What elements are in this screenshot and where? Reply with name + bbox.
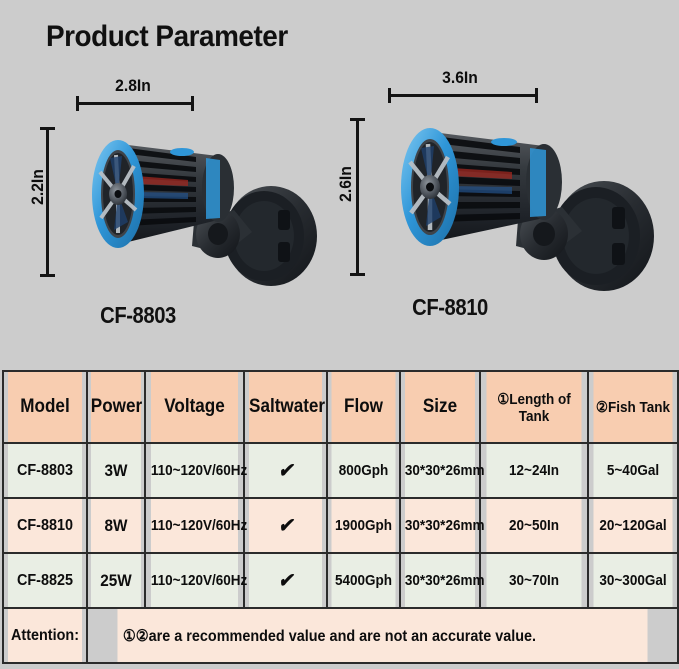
cell-length-of-tank: 30~70In xyxy=(485,553,582,608)
cell-flow: 1900Gph xyxy=(331,498,397,553)
table-row: CF-8825 25W 110~120V/60Hz ✔ 5400Gph 30*3… xyxy=(3,553,678,608)
height-dimension-line xyxy=(46,127,49,277)
spec-table: Model Power Voltage Saltwater Flow Size … xyxy=(2,370,679,664)
column-header-fish-tank: ②Fish Tank xyxy=(593,371,674,443)
attention-label: Attention: xyxy=(7,608,83,663)
cell-power: 8W xyxy=(90,498,142,553)
page-title: Product Parameter xyxy=(46,20,288,54)
height-dimension-label: 2.6In xyxy=(336,156,356,211)
cell-saltwater-check: ✔ xyxy=(248,553,323,608)
column-header-model: Model xyxy=(7,371,83,443)
cell-voltage: 110~120V/60Hz xyxy=(150,443,239,498)
model-caption: CF-8810 xyxy=(380,294,521,321)
table-footer-row: Attention: ①②are a recommended value and… xyxy=(3,608,678,663)
table-row: CF-8810 8W 110~120V/60Hz ✔ 1900Gph 30*30… xyxy=(3,498,678,553)
height-dimension-label: 2.2In xyxy=(28,159,48,214)
cell-model: CF-8803 xyxy=(7,443,83,498)
height-dimension-line xyxy=(356,118,359,276)
cell-voltage: 110~120V/60Hz xyxy=(150,553,239,608)
model-caption: CF-8803 xyxy=(68,302,209,329)
table-row: CF-8803 3W 110~120V/60Hz ✔ 800Gph 30*30*… xyxy=(3,443,678,498)
table-header-row: Model Power Voltage Saltwater Flow Size … xyxy=(3,371,678,443)
column-header-voltage: Voltage xyxy=(150,371,239,443)
cell-length-of-tank: 12~24In xyxy=(485,443,582,498)
cell-power: 3W xyxy=(90,443,142,498)
column-header-size: Size xyxy=(404,371,476,443)
cell-voltage: 110~120V/60Hz xyxy=(150,498,239,553)
pump-illustration-cf8810 xyxy=(374,104,664,309)
column-header-power: Power xyxy=(90,371,142,443)
cell-length-of-tank: 20~50In xyxy=(485,498,582,553)
attention-note: ①②are a recommended value and are not an… xyxy=(117,608,649,663)
cell-flow: 5400Gph xyxy=(331,553,397,608)
column-header-length-of-tank: ①Length of Tank xyxy=(485,371,582,443)
product-showcase: 2.8In 2.2In xyxy=(0,62,679,347)
cell-saltwater-check: ✔ xyxy=(248,443,323,498)
cell-fish-tank: 30~300Gal xyxy=(593,553,674,608)
spec-table-container: Model Power Voltage Saltwater Flow Size … xyxy=(2,370,677,664)
column-header-flow: Flow xyxy=(331,371,397,443)
product-figure-cf8810: 3.6In 2.6In xyxy=(330,62,660,347)
width-dimension-line xyxy=(76,102,194,105)
width-dimension-label: 3.6In xyxy=(386,68,533,88)
cell-saltwater-check: ✔ xyxy=(248,498,323,553)
cell-flow: 800Gph xyxy=(331,443,397,498)
cell-size: 30*30*26mm xyxy=(404,553,476,608)
product-figure-cf8803: 2.8In 2.2In xyxy=(28,62,328,347)
cell-model: CF-8810 xyxy=(7,498,83,553)
pump-illustration-cf8803 xyxy=(66,114,328,304)
cell-size: 30*30*26mm xyxy=(404,443,476,498)
width-dimension-line xyxy=(388,94,538,97)
cell-fish-tank: 20~120Gal xyxy=(593,498,674,553)
cell-model: CF-8825 xyxy=(7,553,83,608)
cell-fish-tank: 5~40Gal xyxy=(593,443,674,498)
column-header-saltwater: Saltwater xyxy=(248,371,323,443)
cell-size: 30*30*26mm xyxy=(404,498,476,553)
width-dimension-label: 2.8In xyxy=(73,76,193,96)
cell-power: 25W xyxy=(90,553,142,608)
